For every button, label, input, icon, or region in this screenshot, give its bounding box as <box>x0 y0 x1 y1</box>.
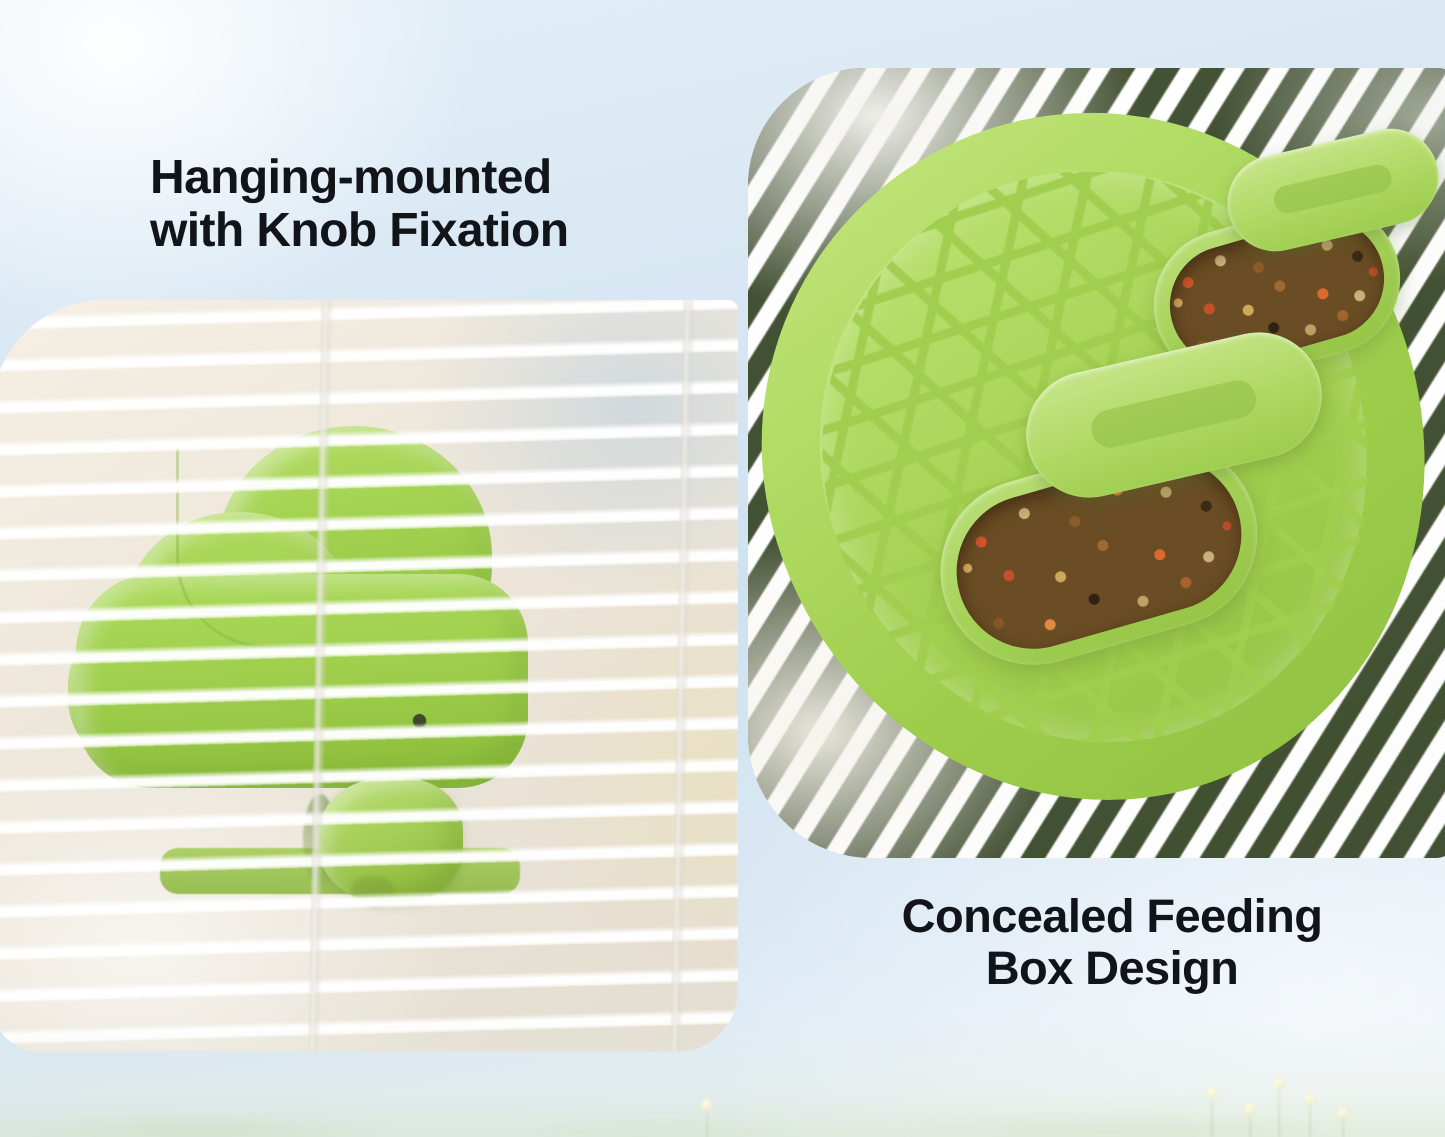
infographic-canvas: Hanging-mounted with Knob Fixation Conce… <box>0 0 1445 1137</box>
feature-photo-hanging-mount <box>0 300 738 1052</box>
feature-heading-concealed-feeding-box: Concealed Feeding Box Design <box>862 890 1362 993</box>
feature-heading-hanging-mount: Hanging-mounted with Knob Fixation <box>150 152 568 258</box>
meadow-grass-blur <box>0 1077 1445 1137</box>
feature-photo-concealed-feeding-box <box>748 68 1445 858</box>
cage-bars-vertical <box>0 300 738 1052</box>
